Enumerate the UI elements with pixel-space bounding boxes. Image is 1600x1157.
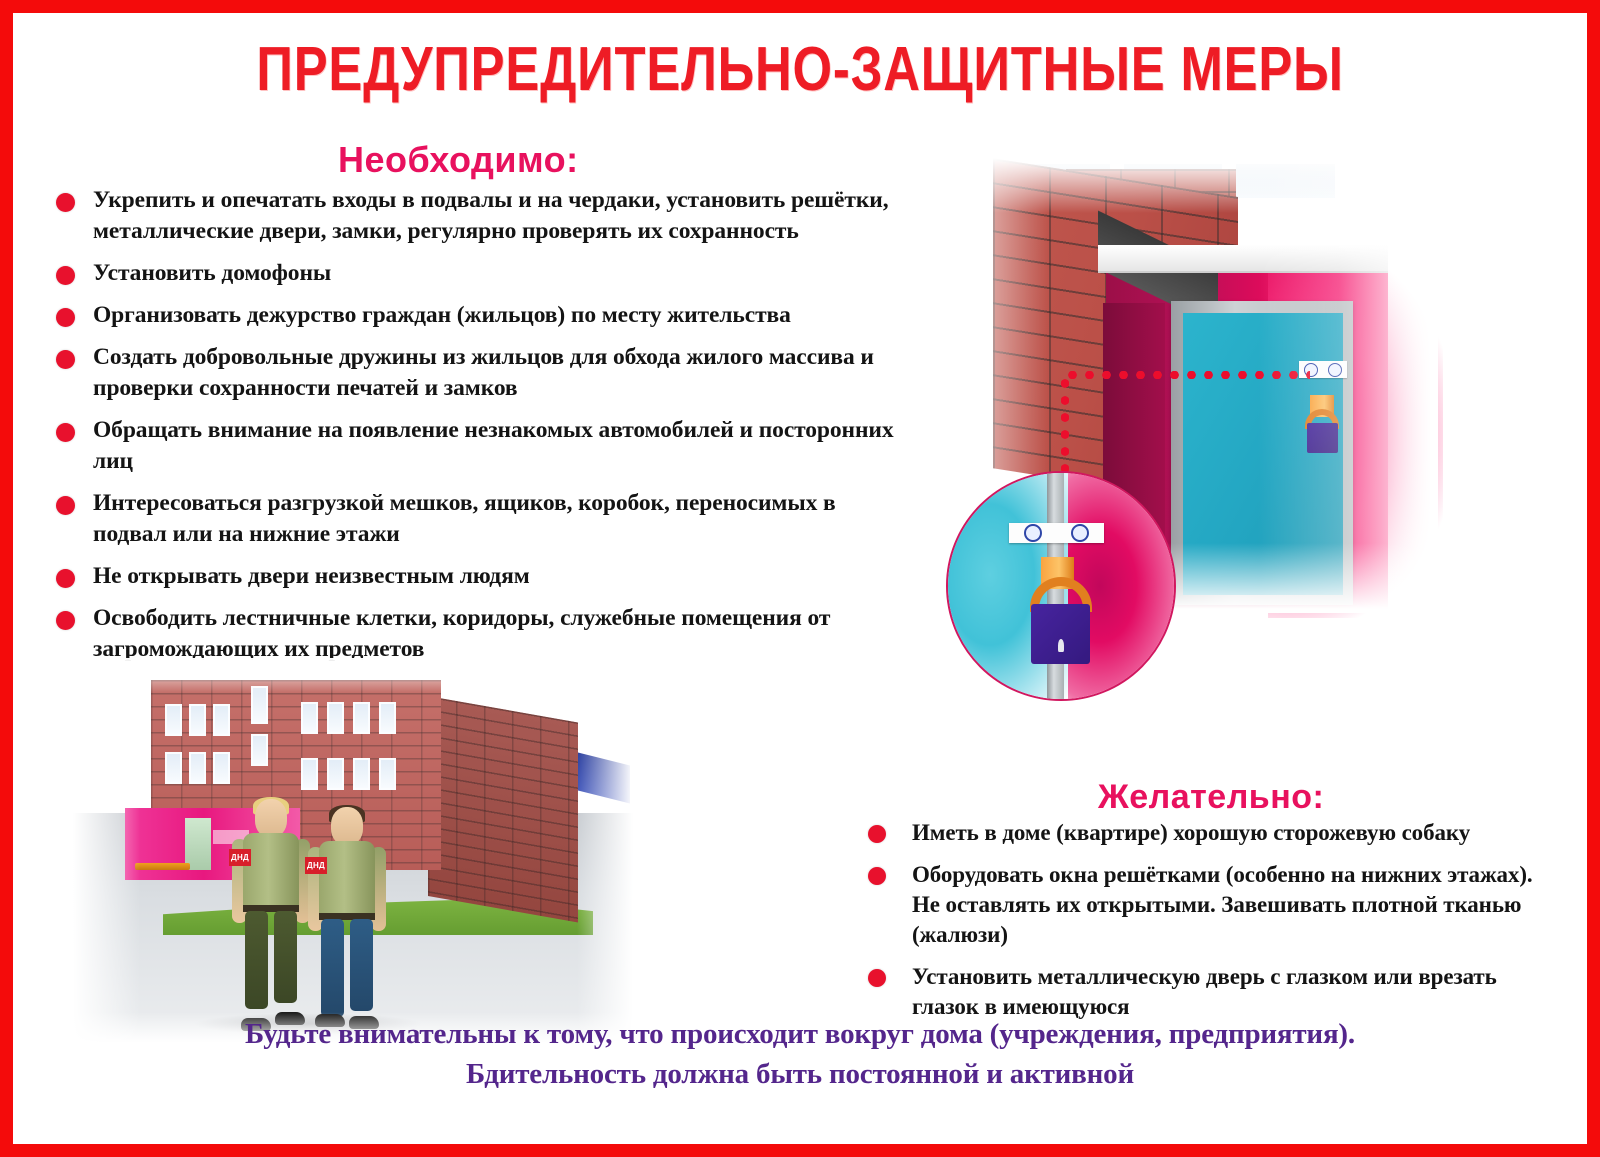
legs xyxy=(245,911,297,1009)
list-item: Обращать внимание на появление незнакомы… xyxy=(49,415,904,477)
shirt xyxy=(319,841,375,919)
list-item-text: Установить домофоны xyxy=(93,260,331,286)
leg xyxy=(274,911,297,1003)
bullet-dot-icon xyxy=(56,496,75,515)
list-item-text: Укрепить и опечатать входы в подвалы и н… xyxy=(93,187,888,244)
patrol-member: ДНД xyxy=(301,807,393,1029)
list-item-text: Оборудовать окна решётками (особенно на … xyxy=(912,862,1533,947)
list-item: Укрепить и опечатать входы в подвалы и н… xyxy=(49,185,904,247)
list-item-text: Интересоваться разгрузкой мешков, ящиков… xyxy=(93,490,836,547)
poster-root: ПРЕДУПРЕДИТЕЛЬНО-ЗАЩИТНЫЕ МЕРЫ Необходим… xyxy=(0,0,1600,1157)
list-item: Не открывать двери неизвестным людям xyxy=(49,561,904,592)
leg xyxy=(321,919,344,1017)
list-item: Установить домофоны xyxy=(49,258,904,289)
list-item-text: Не открывать двери неизвестным людям xyxy=(93,563,530,589)
bullet-dot-icon xyxy=(868,867,886,885)
head xyxy=(255,799,287,837)
armband-dnd: ДНД xyxy=(305,857,327,874)
bullet-dot-icon xyxy=(56,423,75,442)
armband-dnd: ДНД xyxy=(229,849,251,866)
list-item-text: Обращать внимание на появление незнакомы… xyxy=(93,417,894,474)
list-item: Оборудовать окна решётками (особенно на … xyxy=(868,860,1558,950)
bullet-dot-icon xyxy=(868,969,886,987)
title-bar: ПРЕДУПРЕДИТЕЛЬНО-ЗАЩИТНЫЕ МЕРЫ xyxy=(13,39,1587,101)
magnified-padlock-icon xyxy=(1020,557,1101,670)
list-item: Интересоваться разгрузкой мешков, ящиков… xyxy=(49,488,904,550)
bullet-dot-icon xyxy=(56,350,75,369)
list-item: Организовать дежурство граждан (жильцов)… xyxy=(49,300,904,331)
required-section-heading: Необходимо: xyxy=(338,139,579,181)
leg xyxy=(245,911,268,1009)
bullet-dot-icon xyxy=(56,569,75,588)
bullet-dot-icon xyxy=(56,266,75,285)
list-item-text: Иметь в доме (квартире) хорошую сторожев… xyxy=(912,820,1470,845)
desirable-section-heading: Желательно: xyxy=(1098,778,1324,817)
magnified-paper-seal-icon xyxy=(1009,523,1104,543)
list-item-text: Организовать дежурство граждан (жильцов)… xyxy=(93,302,791,328)
list-item-text: Освободить лестничные клетки, коридоры, … xyxy=(93,605,830,662)
porch-door xyxy=(185,818,211,870)
shirt xyxy=(243,833,299,911)
list-item: Иметь в доме (квартире) хорошую сторожев… xyxy=(868,818,1558,848)
list-item: Освободить лестничные клетки, коридоры, … xyxy=(49,603,904,665)
list-item-text: Создать добровольные дружины из жильцов … xyxy=(93,344,874,401)
bullet-dot-icon xyxy=(56,193,75,212)
footer-message: Будьте внимательны к тому, что происходи… xyxy=(13,1014,1587,1094)
apartment-building-side xyxy=(428,696,578,922)
keyhole-icon xyxy=(1058,639,1064,652)
magnifier-detail xyxy=(946,471,1176,701)
bullet-dot-icon xyxy=(56,611,75,630)
legs xyxy=(321,919,373,1017)
required-measures-list: Укрепить и опечатать входы в подвалы и н… xyxy=(49,185,904,676)
head xyxy=(331,807,363,845)
desirable-measures-list: Иметь в доме (квартире) хорошую сторожев… xyxy=(868,818,1558,1034)
porch-handrail xyxy=(135,863,190,870)
page-title: ПРЕДУПРЕДИТЕЛЬНО-ЗАЩИТНЫЕ МЕРЫ xyxy=(256,39,1343,101)
list-item: Создать добровольные дружины из жильцов … xyxy=(49,342,904,404)
footer-line-1: Будьте внимательны к тому, что происходи… xyxy=(13,1014,1587,1054)
leg xyxy=(350,919,373,1011)
bullet-dot-icon xyxy=(868,825,886,843)
list-item-text: Установить металлическую дверь с глазком… xyxy=(912,964,1497,1019)
bullet-dot-icon xyxy=(56,308,75,327)
list-item: Установить металлическую дверь с глазком… xyxy=(868,962,1558,1022)
blue-roof xyxy=(570,751,630,804)
patrol-illustration: ДНД ДНД xyxy=(73,658,633,1043)
lock-body xyxy=(1031,604,1090,664)
footer-line-2: Бдительность должна быть постоянной и ак… xyxy=(13,1054,1587,1094)
